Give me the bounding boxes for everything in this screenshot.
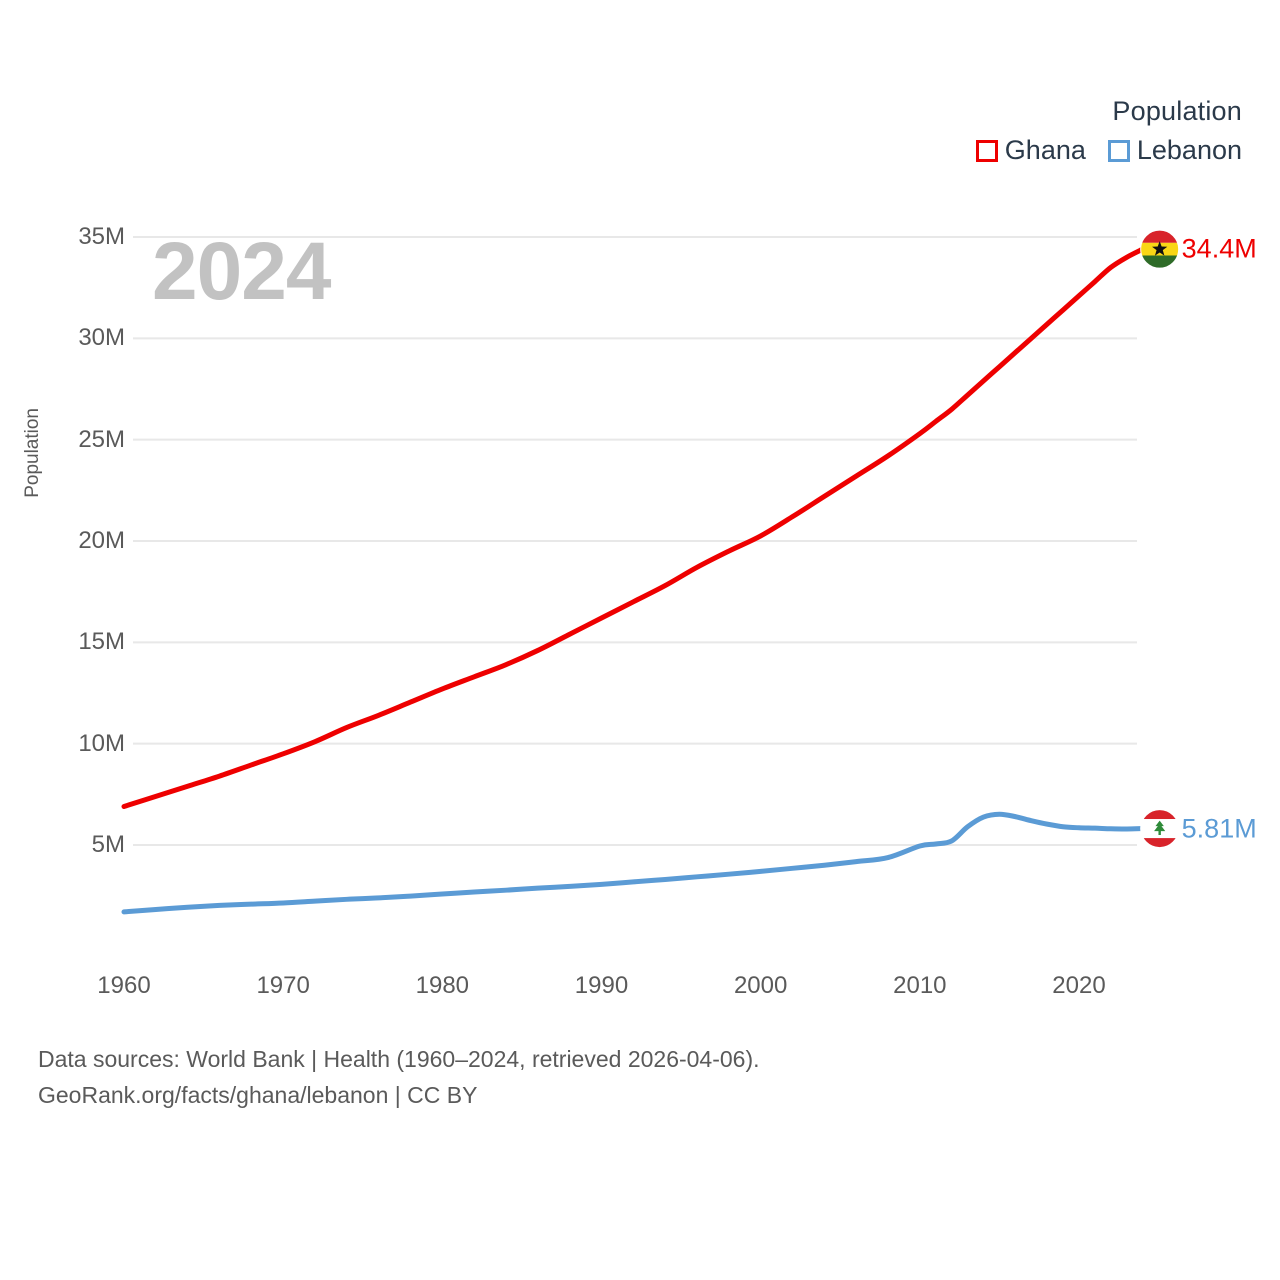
population-line-chart: Population Ghana Lebanon 2024 Population… <box>0 0 1280 1280</box>
series-lines <box>124 249 1143 912</box>
y-tick-label: 25M <box>78 426 125 454</box>
y-tick-label: 15M <box>78 628 125 656</box>
x-tick-label: 1980 <box>416 972 469 1000</box>
endpoint-label-lebanon: 5.81M <box>1182 813 1257 844</box>
chart-footer: Data sources: World Bank | Health (1960–… <box>38 1042 760 1113</box>
endpoint-label-ghana: 34.4M <box>1182 234 1257 265</box>
x-tick-label: 2020 <box>1052 972 1105 1000</box>
end-markers <box>1141 230 1179 847</box>
series-line-lebanon <box>124 814 1143 912</box>
y-tick-label: 35M <box>78 223 125 251</box>
x-tick-label: 1970 <box>256 972 309 1000</box>
x-tick-label: 1960 <box>97 972 150 1000</box>
x-tick-label: 1990 <box>575 972 628 1000</box>
footer-attribution: GeoRank.org/facts/ghana/lebanon | CC BY <box>38 1078 760 1114</box>
y-tick-label: 10M <box>78 730 125 758</box>
y-tick-label: 30M <box>78 324 125 352</box>
y-tick-label: 20M <box>78 527 125 555</box>
x-tick-label: 2010 <box>893 972 946 1000</box>
series-line-ghana <box>124 249 1143 806</box>
lebanon-flag-icon <box>1141 810 1179 848</box>
x-tick-label: 2000 <box>734 972 787 1000</box>
ghana-flag-icon <box>1141 230 1179 268</box>
y-tick-label: 5M <box>92 831 125 859</box>
footer-data-sources: Data sources: World Bank | Health (1960–… <box>38 1042 760 1078</box>
